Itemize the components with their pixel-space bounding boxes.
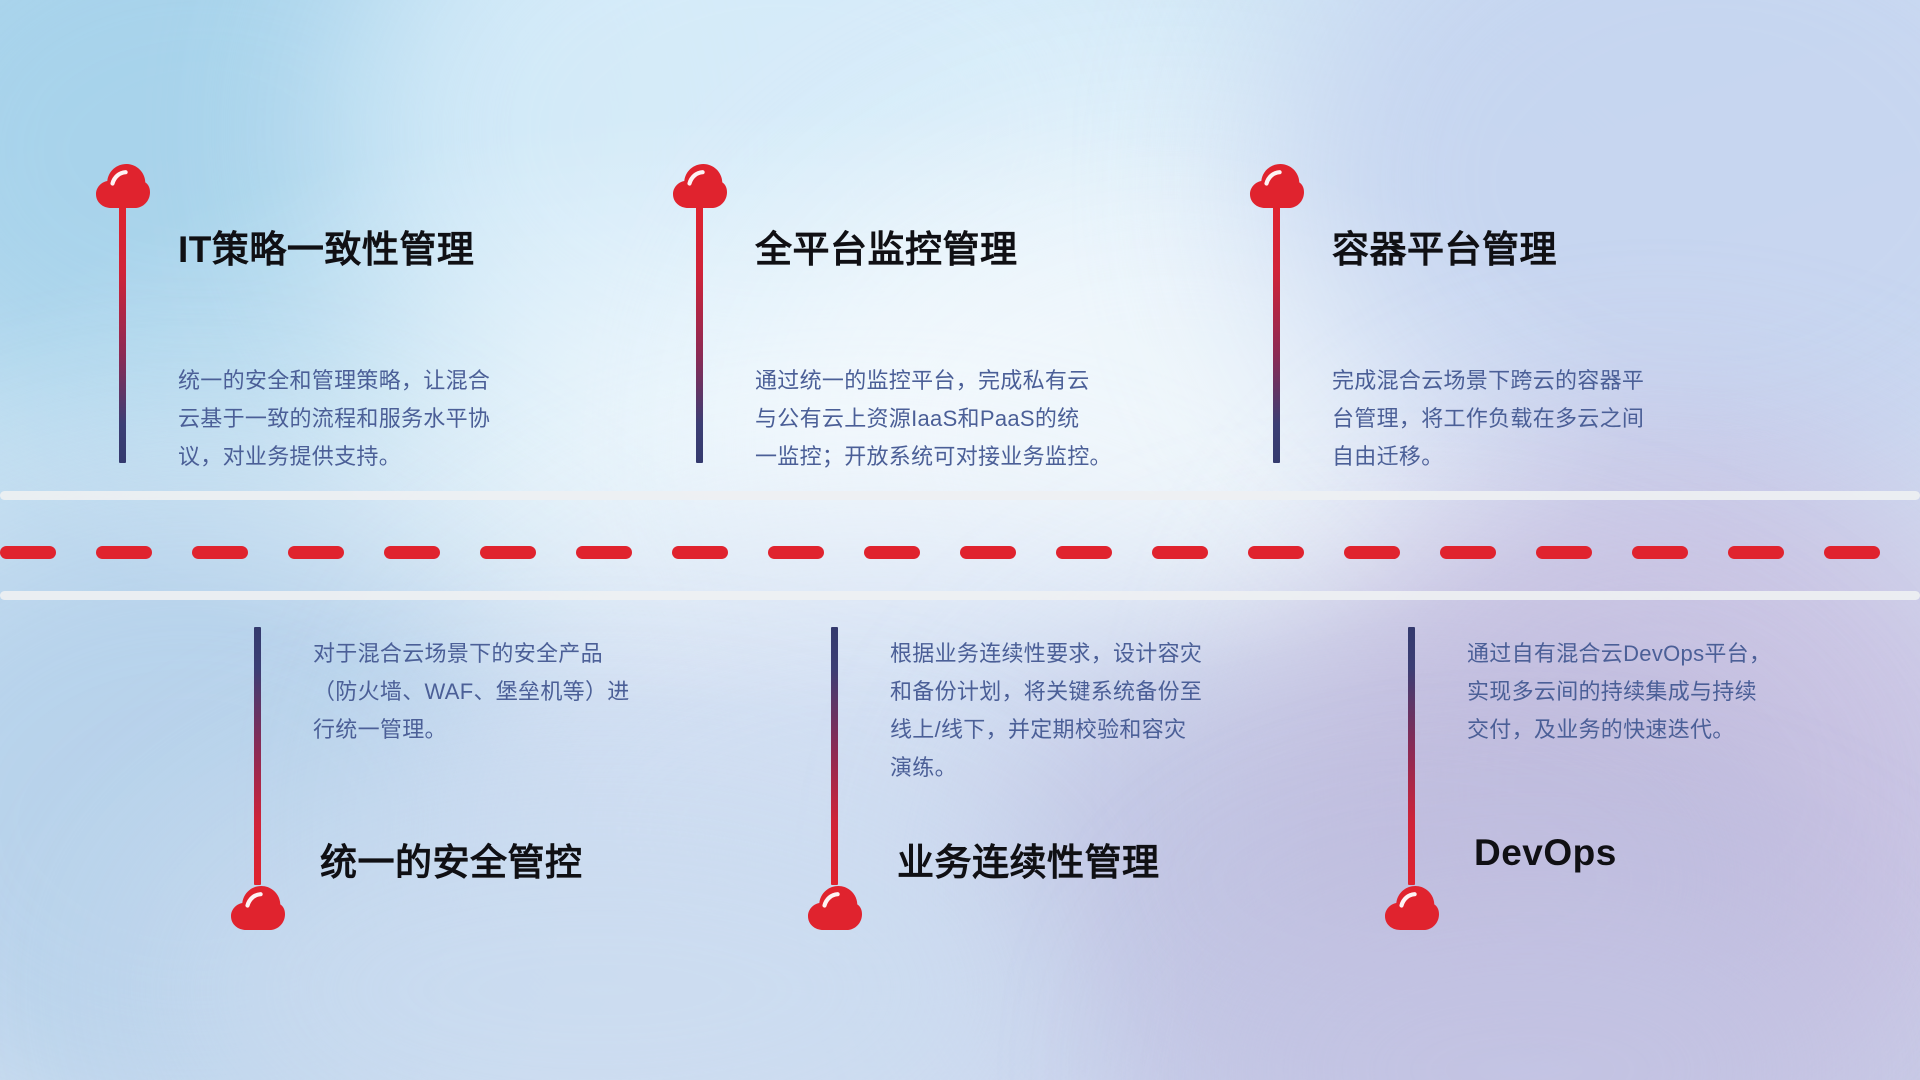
road-dash-segment: [672, 546, 728, 559]
card-heading: 统一的安全管控: [320, 832, 583, 886]
card-body: 根据业务连续性要求，设计容灾 和备份计划，将关键系统备份至 线上/线下，并定期校…: [890, 635, 1330, 787]
body-line: 完成混合云场景下跨云的容器平: [1332, 362, 1772, 400]
body-line: 对于混合云场景下的安全产品: [313, 635, 753, 673]
road-dash-segment: [1824, 546, 1880, 559]
background-highlight: [0, 0, 1920, 1080]
body-line: 通过自有混合云DevOps平台，: [1467, 635, 1907, 673]
cloud-icon: [807, 885, 863, 931]
pin-stem: [119, 205, 126, 463]
body-line: 通过统一的监控平台，完成私有云: [755, 362, 1215, 400]
road-dash-segment: [1728, 546, 1784, 559]
cloud-icon: [230, 885, 286, 931]
road-dash-segment: [1440, 546, 1496, 559]
card-body: 完成混合云场景下跨云的容器平 台管理，将工作负载在多云之间 自由迁移。: [1332, 362, 1772, 476]
cloud-icon: [95, 163, 151, 209]
card-heading: IT策略一致性管理: [178, 219, 474, 273]
road-dash-segment: [1632, 546, 1688, 559]
cloud-icon: [672, 163, 728, 209]
card-body: 通过统一的监控平台，完成私有云 与公有云上资源IaaS和PaaS的统 一监控；开…: [755, 362, 1215, 476]
pin-stem: [254, 627, 261, 885]
card-body: 统一的安全和管理策略，让混合 云基于一致的流程和服务水平协 议，对业务提供支持。: [178, 362, 618, 476]
road-dash-segment: [0, 546, 56, 559]
road-edge-line-top: [0, 491, 1920, 500]
body-line: 实现多云间的持续集成与持续: [1467, 673, 1907, 711]
card-heading: 业务连续性管理: [897, 832, 1160, 886]
cloud-icon: [1249, 163, 1305, 209]
card-heading: 容器平台管理: [1332, 219, 1557, 273]
cloud-icon: [1384, 885, 1440, 931]
road-dash-segment: [480, 546, 536, 559]
card-heading: 全平台监控管理: [755, 219, 1018, 273]
road-dash-segment: [288, 546, 344, 559]
pin-stem: [696, 205, 703, 463]
road-dash-segment: [1344, 546, 1400, 559]
road-dash-segment: [1152, 546, 1208, 559]
card-body: 对于混合云场景下的安全产品 （防火墙、WAF、堡垒机等）进 行统一管理。: [313, 635, 753, 749]
road-dash-segment: [960, 546, 1016, 559]
body-line: 和备份计划，将关键系统备份至: [890, 673, 1330, 711]
road-dash-segment: [192, 546, 248, 559]
body-line: 自由迁移。: [1332, 438, 1772, 476]
road-dash-segment: [768, 546, 824, 559]
infographic-canvas: IT策略一致性管理 统一的安全和管理策略，让混合 云基于一致的流程和服务水平协 …: [0, 0, 1920, 1080]
road-dash-segment: [576, 546, 632, 559]
body-line: 根据业务连续性要求，设计容灾: [890, 635, 1330, 673]
body-line: 议，对业务提供支持。: [178, 438, 618, 476]
pin-stem: [1273, 205, 1280, 463]
road-dash-segment: [384, 546, 440, 559]
body-line: 云基于一致的流程和服务水平协: [178, 400, 618, 438]
pin-stem: [831, 627, 838, 885]
body-line: 一监控；开放系统可对接业务监控。: [755, 438, 1215, 476]
body-line: 统一的安全和管理策略，让混合: [178, 362, 618, 400]
body-line: 演练。: [890, 749, 1330, 787]
road-dash-segment: [1056, 546, 1112, 559]
body-line: 交付，及业务的快速迭代。: [1467, 711, 1907, 749]
body-line: 行统一管理。: [313, 711, 753, 749]
body-line: 台管理，将工作负载在多云之间: [1332, 400, 1772, 438]
card-heading: DevOps: [1474, 832, 1617, 874]
body-line: （防火墙、WAF、堡垒机等）进: [313, 673, 753, 711]
road-dash-segment: [1248, 546, 1304, 559]
card-body: 通过自有混合云DevOps平台， 实现多云间的持续集成与持续 交付，及业务的快速…: [1467, 635, 1907, 749]
road-dash-segment: [864, 546, 920, 559]
road-dash-segment: [1536, 546, 1592, 559]
road-dash-segment: [96, 546, 152, 559]
body-line: 与公有云上资源IaaS和PaaS的统: [755, 400, 1215, 438]
road-dashed-line: [0, 546, 1920, 559]
pin-stem: [1408, 627, 1415, 885]
road-edge-line-bottom: [0, 591, 1920, 600]
body-line: 线上/线下，并定期校验和容灾: [890, 711, 1330, 749]
